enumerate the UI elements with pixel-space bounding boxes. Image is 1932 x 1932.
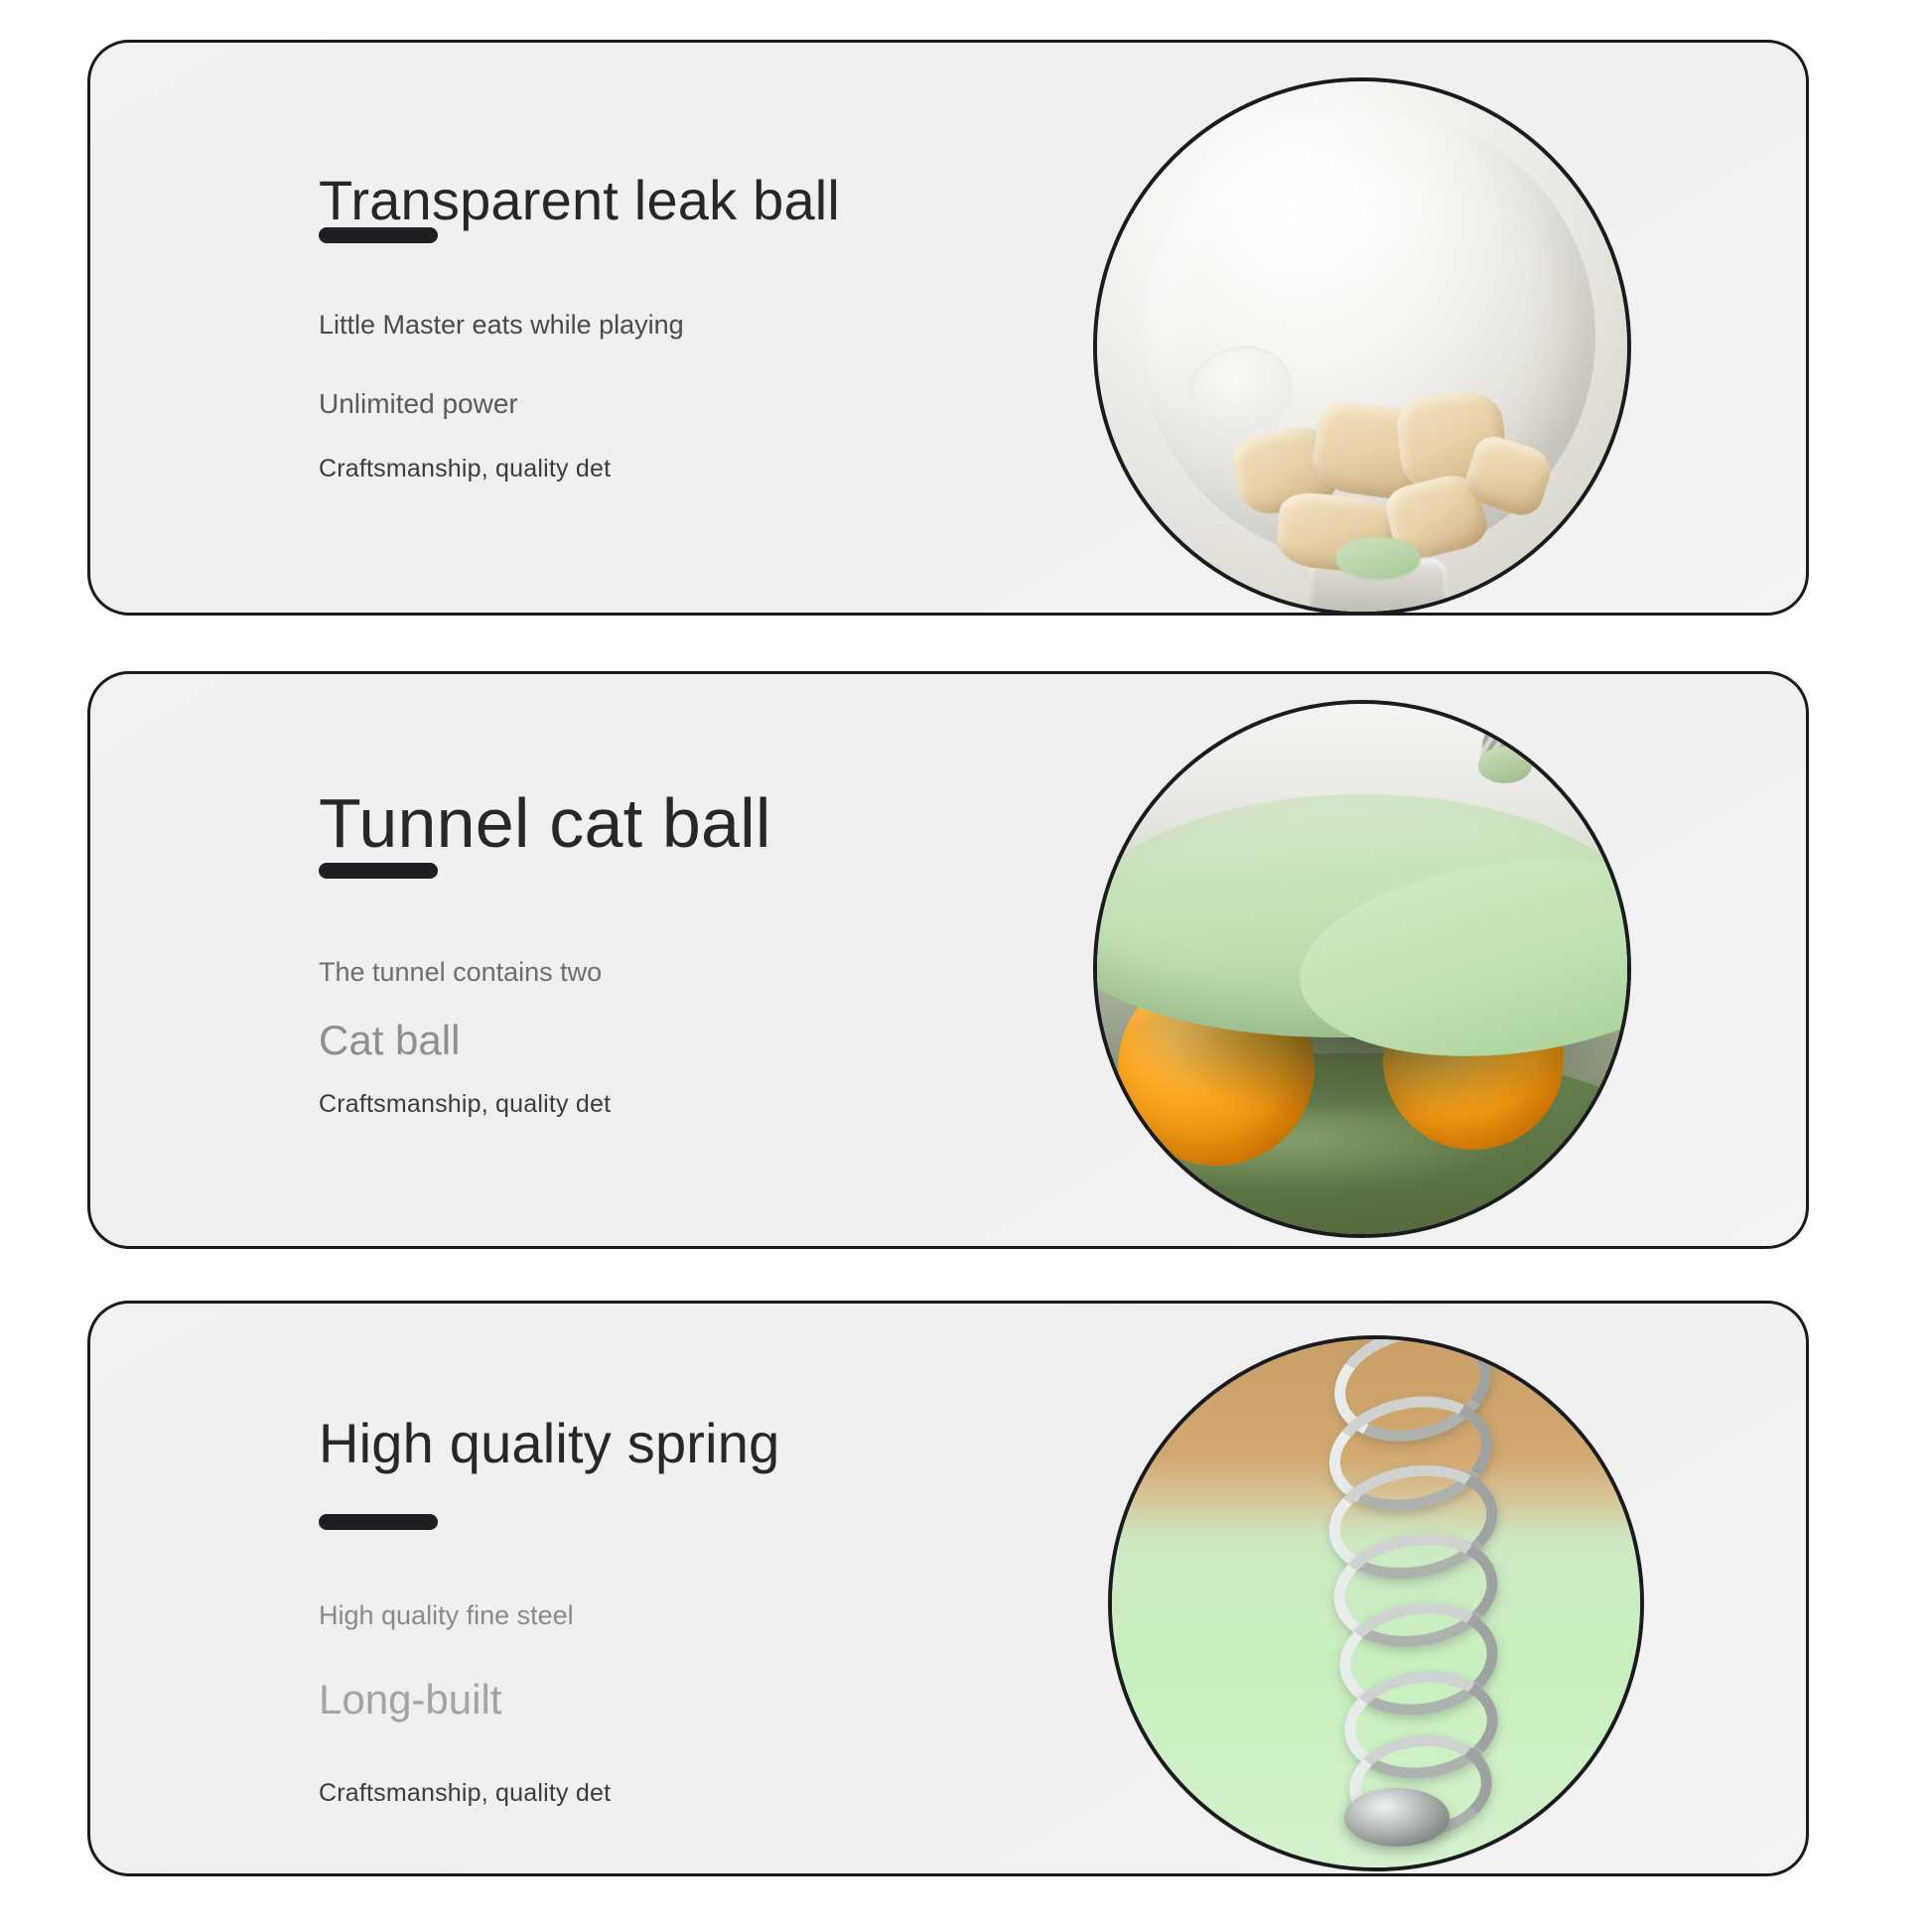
accent-rule [319, 227, 438, 243]
card-subtext: Cat ball [319, 1014, 460, 1067]
card-title: Transparent leak ball [319, 168, 840, 232]
card-text-column: High quality spring High quality fine st… [319, 1304, 1113, 1873]
transparent-leak-ball-photo [1093, 77, 1631, 616]
product-feature-page: Transparent leak ball Little Master eats… [0, 0, 1932, 1932]
accent-rule [319, 1514, 438, 1530]
feature-card-high-quality-spring: High quality spring High quality fine st… [87, 1301, 1809, 1876]
high-quality-spring-photo [1108, 1335, 1644, 1871]
card-footnote: Craftsmanship, quality det [319, 1088, 611, 1121]
card-title: Tunnel cat ball [319, 783, 771, 863]
card-title: High quality spring [319, 1411, 780, 1475]
card-subtext: Long-built [319, 1673, 501, 1726]
tunnel-cat-ball-photo [1093, 700, 1631, 1238]
spring-end-cap [1344, 1788, 1449, 1847]
rod-cap-shape [1478, 747, 1531, 783]
feature-card-tunnel-cat-ball: Tunnel cat ball The tunnel contains two … [87, 671, 1809, 1249]
card-footnote: Craftsmanship, quality det [319, 453, 611, 485]
photo-inner [1097, 704, 1627, 1234]
sphere-highlight [1213, 145, 1457, 304]
accent-rule [319, 863, 438, 879]
card-text-column: Transparent leak ball Little Master eats… [319, 43, 1113, 613]
card-footnote: Craftsmanship, quality det [319, 1777, 611, 1810]
card-lede: The tunnel contains two [319, 955, 602, 990]
card-lede: Little Master eats while playing [319, 308, 684, 343]
card-lede: High quality fine steel [319, 1598, 574, 1633]
card-subtext: Unlimited power [319, 386, 518, 422]
photo-inner [1112, 1339, 1640, 1867]
photo-inner [1097, 81, 1627, 612]
green-treat-piece [1335, 537, 1420, 580]
card-text-column: Tunnel cat ball The tunnel contains two … [319, 674, 1113, 1246]
feature-card-transparent-leak-ball: Transparent leak ball Little Master eats… [87, 40, 1809, 616]
